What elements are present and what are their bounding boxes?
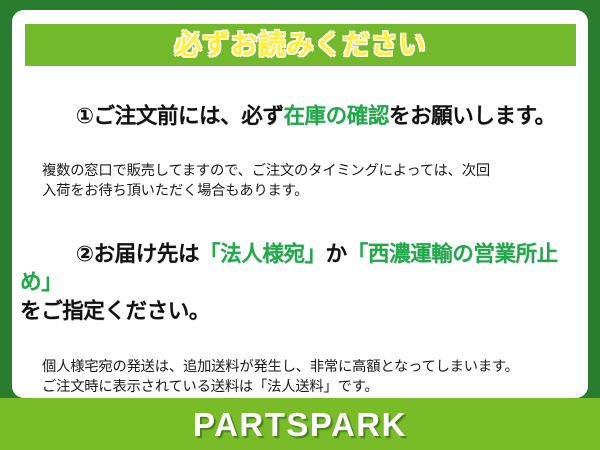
notice-frame: 必ずお読みください ①ご注文前には、必ず在庫の確認をお願いします。 複数の窓口で… (0, 0, 600, 450)
notice-card: 必ずお読みください ①ご注文前には、必ず在庫の確認をお願いします。 複数の窓口で… (12, 10, 588, 398)
notice-item-1-heading-part-3: をお願いします。 (389, 104, 556, 128)
brand-logo: PARTSPARK (193, 408, 407, 441)
notice-list: ①ご注文前には、必ず在庫の確認をお願いします。 複数の窓口で販売してますので、ご… (12, 66, 588, 398)
header-title: 必ずお読みください (175, 32, 427, 59)
notice-item-2-heading-part-1: ②お届け先は (76, 242, 199, 266)
notice-item-2-highlight-1: 「法人様宛」 (199, 242, 326, 266)
notice-item-2-heading-part-3: か (326, 242, 347, 266)
header-banner: 必ずお読みください (25, 24, 576, 66)
notice-item-2-heading-part-5: をご指定ください。 (20, 299, 210, 323)
notice-item-2-subtext: 個人様宅宛の発送は、追加送料が発生し、非常に高額となってしまいます。 ご注文時に… (42, 357, 578, 398)
notice-item-1-highlight: 在庫の確認 (283, 104, 389, 128)
notice-item-1-heading: ①ご注文前には、必ず在庫の確認をお願いします。 (20, 74, 578, 159)
notice-item-1: ①ご注文前には、必ず在庫の確認をお願いします。 複数の窓口で販売してますので、ご… (20, 74, 578, 202)
footer-banner: PARTSPARK (0, 398, 600, 450)
notice-item-1-subtext: 複数の窓口で販売してますので、ご注文のタイミングによっては、次回 入荷をお待ち頂… (42, 161, 578, 202)
notice-item-2-heading: ②お届け先は「法人様宛」か「西濃運輸の営業所止め」 をご指定ください。 (20, 212, 578, 354)
notice-item-1-heading-part-1: ①ご注文前には、必ず (76, 104, 284, 128)
notice-item-2: ②お届け先は「法人様宛」か「西濃運輸の営業所止め」 をご指定ください。 個人様宅… (20, 212, 578, 398)
